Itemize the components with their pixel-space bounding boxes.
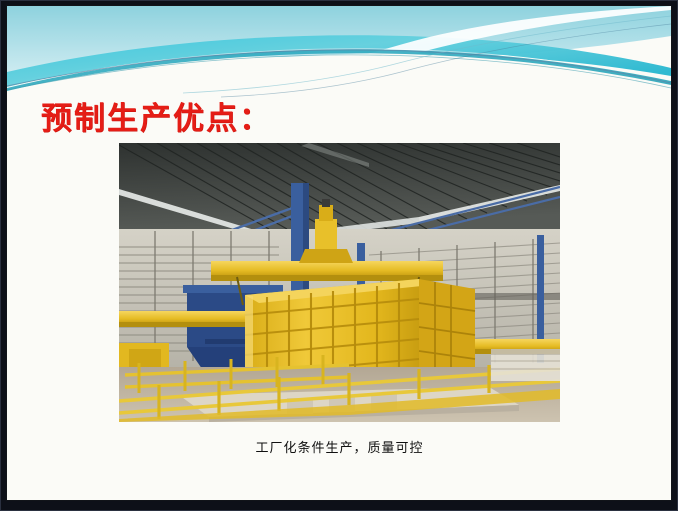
cyan-wave-banner	[7, 6, 671, 98]
wave-hairline-blue	[7, 50, 671, 86]
precast-factory-photo	[119, 143, 560, 422]
wave-white-crescent	[167, 6, 671, 90]
photo-spreader-beam	[211, 261, 443, 277]
wave-hairline-teal	[7, 55, 671, 90]
wave-light-band	[7, 6, 671, 84]
slide-canvas: 预制生产优点：	[6, 5, 672, 501]
wave-hairline-upper2	[221, 24, 671, 97]
wave-teal-edge	[7, 49, 671, 91]
photo-right-stock	[491, 349, 560, 381]
photo-caption: 工厂化条件生产，质量可控	[119, 437, 560, 456]
presentation-window-frame: 预制生产优点：	[0, 0, 678, 511]
wave-white-crescent-lower	[7, 53, 671, 98]
wave-hairline-upper	[183, 16, 671, 93]
wave-bright-swoosh	[7, 35, 671, 87]
slide-title: 预制生产优点：	[41, 102, 272, 138]
